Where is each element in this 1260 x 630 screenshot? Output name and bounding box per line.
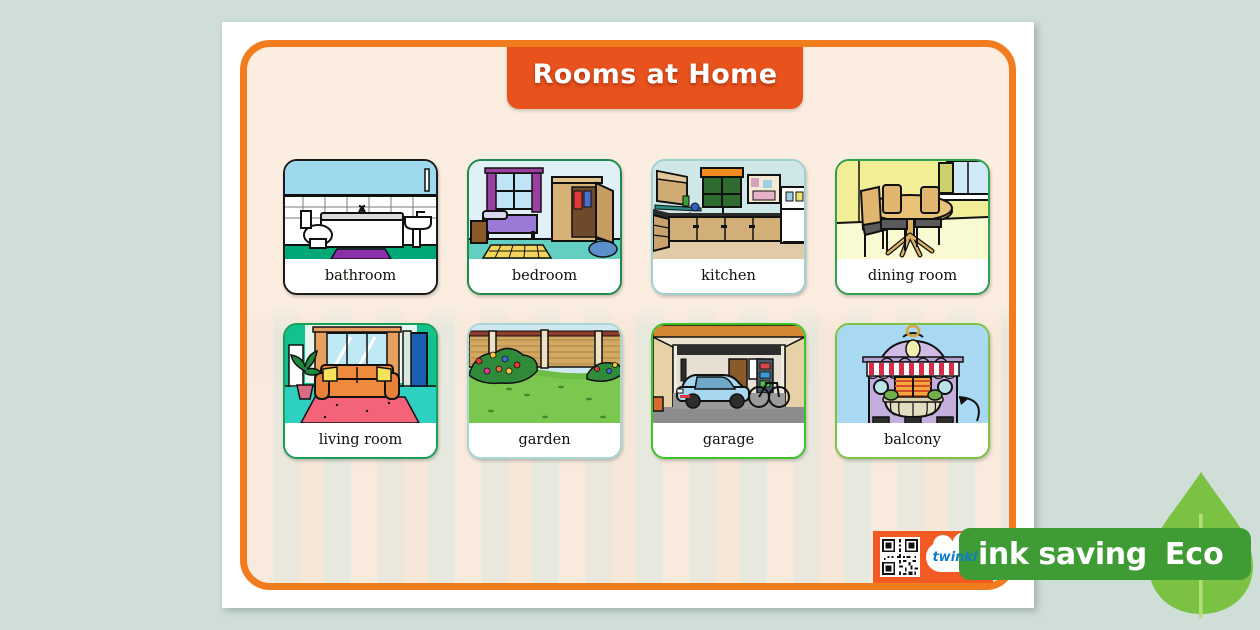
room-card-garden[interactable]: garden xyxy=(467,323,622,459)
garden-illustration xyxy=(469,325,620,427)
ink-saving-eco-badge: ink saving Eco xyxy=(956,470,1260,630)
room-label: garage xyxy=(653,423,804,457)
title-banner: Rooms at Home xyxy=(507,40,803,109)
room-label: balcony xyxy=(837,423,988,457)
kitchen-illustration xyxy=(653,161,804,263)
rooms-grid: bathroom xyxy=(283,159,981,459)
eco-text: Eco xyxy=(1165,537,1224,572)
room-card-bedroom[interactable]: bedroom xyxy=(467,159,622,295)
room-label: dining room xyxy=(837,259,988,293)
room-card-living-room[interactable]: living room xyxy=(283,323,438,459)
room-label: bedroom xyxy=(469,259,620,293)
bedroom-illustration xyxy=(469,161,620,263)
qr-code-icon xyxy=(880,537,920,577)
room-label: garden xyxy=(469,423,620,457)
screenshot-root: Rooms at Home xyxy=(0,0,1260,630)
page-frame: Rooms at Home xyxy=(240,40,1016,590)
dining-room-illustration xyxy=(837,161,988,263)
room-card-garage[interactable]: garage xyxy=(651,323,806,459)
eco-bar: ink saving Eco xyxy=(959,528,1251,580)
page-title: Rooms at Home xyxy=(533,59,778,90)
room-card-bathroom[interactable]: bathroom xyxy=(283,159,438,295)
room-card-kitchen[interactable]: kitchen xyxy=(651,159,806,295)
garage-illustration xyxy=(653,325,804,427)
room-label: kitchen xyxy=(653,259,804,293)
bathroom-illustration xyxy=(285,161,436,263)
room-card-dining-room[interactable]: dining room xyxy=(835,159,990,295)
ink-saving-text: ink saving xyxy=(978,537,1147,572)
worksheet-page: Rooms at Home xyxy=(222,22,1034,608)
twinkl-wordmark: twinkl xyxy=(932,550,977,565)
balcony-illustration xyxy=(837,325,988,427)
room-label: bathroom xyxy=(285,259,436,293)
room-label: living room xyxy=(285,423,436,457)
living-room-illustration xyxy=(285,325,436,427)
room-card-balcony[interactable]: balcony xyxy=(835,323,990,459)
